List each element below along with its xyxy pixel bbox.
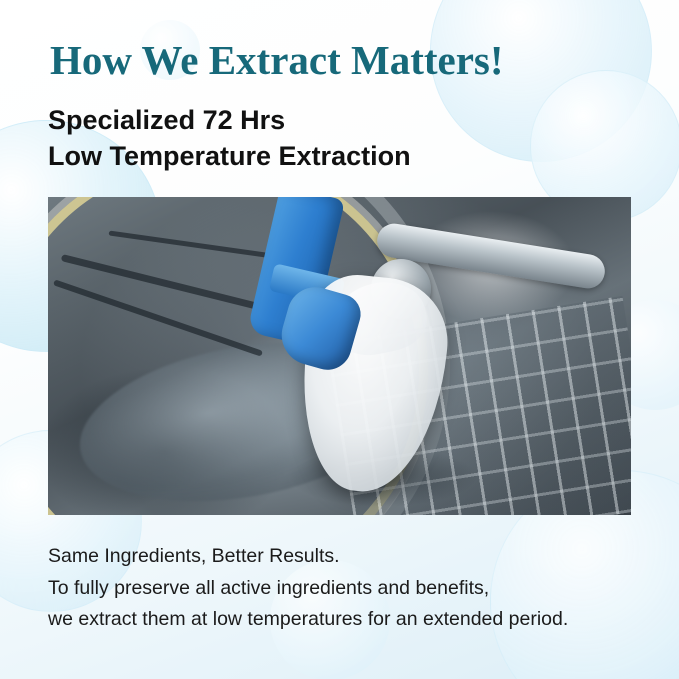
subheadline-line-1: Specialized 72 Hrs [48, 103, 411, 139]
extraction-photo [48, 197, 631, 515]
body-line-3: we extract them at low temperatures for … [48, 604, 568, 636]
subheadline: Specialized 72 Hrs Low Temperature Extra… [48, 103, 411, 174]
body-line-1: Same Ingredients, Better Results. [48, 541, 568, 573]
body-line-2: To fully preserve all active ingredients… [48, 573, 568, 605]
page-title: How We Extract Matters! [50, 38, 504, 83]
subheadline-line-2: Low Temperature Extraction [48, 139, 411, 175]
body-copy: Same Ingredients, Better Results. To ful… [48, 541, 568, 636]
poster-canvas: How We Extract Matters! Specialized 72 H… [0, 0, 679, 679]
